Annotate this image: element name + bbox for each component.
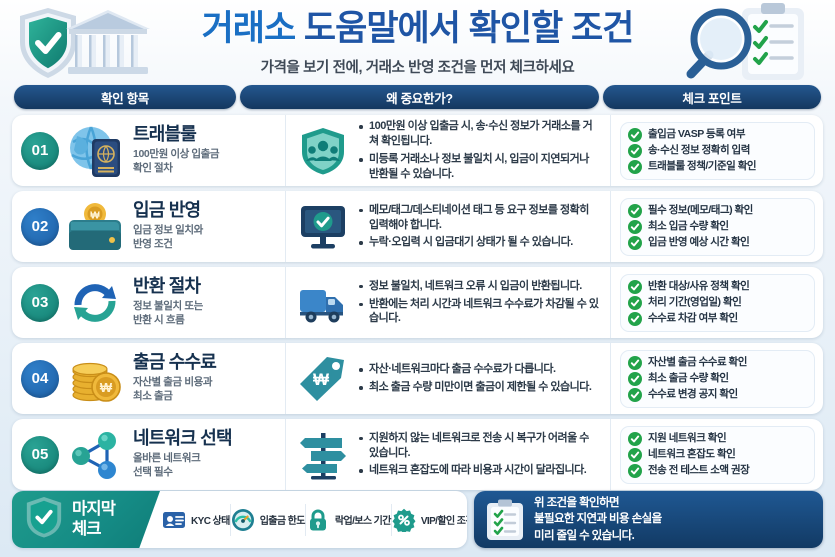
table-row[interactable]: 04 ₩ 출금 수수료 자산별 xyxy=(12,343,823,414)
checkpoint-label: 최소 출금 수량 확인 xyxy=(648,372,729,386)
header-right-illustration xyxy=(660,0,825,84)
row-bullets: 메모/태그/데스티네이션 태그 등 요구 정보를 정확히 입력해야 합니다. 누… xyxy=(358,203,600,251)
price-tag-won-icon: ₩ xyxy=(297,354,349,404)
mini-item-kyc[interactable]: KYC 상태 xyxy=(162,504,231,536)
check-circle-icon xyxy=(628,144,642,158)
table-row[interactable]: 02 ₩ 입금 반영 입금 정보 일치와반영 조건 xyxy=(12,191,823,262)
row-bullets: 자산·네트워크마다 출금 수수료가 다릅니다. 최소 출금 수량 미만이면 출금… xyxy=(358,362,600,395)
monitor-check-icon xyxy=(297,202,349,252)
checkpoint-label: 네트워크 혼잡도 확인 xyxy=(648,448,735,462)
checkpoint-label: 자산별 출금 수수료 확인 xyxy=(648,356,747,370)
clipboard-check-icon xyxy=(485,498,525,542)
page-subtitle: 가격을 보기 전에, 거래소 반영 조건을 먼저 체크하세요 xyxy=(202,56,634,77)
check-circle-icon xyxy=(628,204,642,218)
page-header: 거래소 도움말에서 확인할 조건 가격을 보기 전에, 거래소 반영 조건을 먼… xyxy=(0,0,835,84)
check-circle-icon xyxy=(628,236,642,250)
bullet-item: 정보 불일치, 네트워크 오류 시 입금이 반환됩니다. xyxy=(358,279,600,294)
checkpoint-label: 전송 전 테스트 소액 권장 xyxy=(648,464,749,478)
row-checkpoints-cell: 필수 정보(메모/태그) 확인 최소 입금 수량 확인 입금 반영 예상 시간 … xyxy=(611,191,823,262)
checkpoint-item: 입금 반영 예상 시간 확인 xyxy=(628,236,807,250)
row-subtitle: 입금 정보 일치와반영 조건 xyxy=(133,224,279,252)
checkpoint-item: 자산별 출금 수수료 확인 xyxy=(628,356,807,370)
check-circle-icon xyxy=(628,448,642,462)
final-check-line1: 마지막 xyxy=(72,500,115,518)
row-item-cell: 01 트래블룰 100만원 이상 입출금확인 절차 xyxy=(12,115,286,186)
checkpoint-item: 처리 기간(영업일) 확인 xyxy=(628,296,807,310)
row-bullets: 지원하지 않는 네트워크로 전송 시 복구가 어려울 수 있습니다. 네트워크 … xyxy=(358,431,600,479)
final-check-items: KYC 상태 입출금 한도 락업/보스 기간 VIP/할인 조건 xyxy=(160,491,467,548)
page-title-accent: 거래소 xyxy=(202,9,296,48)
mini-item-lockup[interactable]: 락업/보스 기간 xyxy=(306,504,392,536)
row-item-cell: 05 네트워크 선택 올바른 네트워 xyxy=(12,419,286,490)
check-circle-icon xyxy=(628,432,642,446)
bullet-item: 메모/태그/데스티네이션 태그 등 요구 정보를 정확히 입력해야 합니다. xyxy=(358,203,600,233)
bullet-item: 100만원 이상 입출금 시, 송·수신 정보가 거래소를 거쳐 확인됩니다. xyxy=(358,119,600,149)
magnifier-icon xyxy=(691,12,748,74)
bullet-item: 자산·네트워크마다 출금 수수료가 다릅니다. xyxy=(358,362,600,377)
row-checkpoints-cell: 출입금 VASP 등록 여부 송·수신 정보 정확히 입력 트래블룰 정책/기준… xyxy=(611,115,823,186)
row-reason-cell: ₩ 자산·네트워크마다 출금 수수료가 다릅니다. 최소 출금 수량 미만이면 … xyxy=(286,343,611,414)
column-header-2: 왜 중요한가? xyxy=(240,85,599,109)
final-check-badge: 마지막 체크 xyxy=(12,491,160,548)
page-title: 거래소 도움말에서 확인할 조건 xyxy=(202,9,634,48)
bullet-item: 지원하지 않는 네트워크로 전송 시 복구가 어려울 수 있습니다. xyxy=(358,431,600,461)
row-title: 출금 수수료 xyxy=(133,353,279,373)
truck-icon xyxy=(297,278,349,328)
row-title: 반환 절차 xyxy=(133,277,279,297)
globe-passport-icon xyxy=(65,122,125,180)
row-subtitle: 자산별 출금 비용과최소 출금 xyxy=(133,376,279,404)
row-item-cell: 03 반환 절차 정보 불일치 또는반환 시 흐름 xyxy=(12,267,286,338)
svg-text:₩: ₩ xyxy=(100,380,113,395)
summary-line-2: 불필요한 지연과 비용 손실을 xyxy=(534,513,662,525)
checkpoint-label: 지원 네트워크 확인 xyxy=(648,432,726,446)
gauge-icon xyxy=(231,508,255,532)
final-check-line2: 체크 xyxy=(72,520,101,538)
condition-rows: 01 트래블룰 100만원 이상 입출금확인 절차 xyxy=(0,110,835,490)
column-header-3: 체크 포인트 xyxy=(603,85,821,109)
checkpoint-item: 송·수신 정보 정확히 입력 xyxy=(628,144,807,158)
row-subtitle: 정보 불일치 또는반환 시 흐름 xyxy=(133,300,279,328)
row-bullets: 100만원 이상 입출금 시, 송·수신 정보가 거래소를 거쳐 확인됩니다. … xyxy=(358,119,600,181)
check-circle-icon xyxy=(628,128,642,142)
column-header-1: 확인 항목 xyxy=(14,85,236,109)
checkpoint-label: 송·수신 정보 정확히 입력 xyxy=(648,144,750,158)
page-title-rest: 도움말에서 확인할 조건 xyxy=(295,9,633,48)
page-footer: 마지막 체크 KYC 상태 입출금 한도 락업/보스 기 xyxy=(12,491,823,548)
checkpoint-label: 반환 대상/사유 정책 확인 xyxy=(648,280,749,294)
id-card-icon xyxy=(162,508,186,532)
row-reason-cell: 메모/태그/데스티네이션 태그 등 요구 정보를 정확히 입력해야 합니다. 누… xyxy=(286,191,611,262)
row-checkpoints-cell: 지원 네트워크 확인 네트워크 혼잡도 확인 전송 전 테스트 소액 권장 xyxy=(611,419,823,490)
row-bullets: 정보 불일치, 네트워크 오류 시 입금이 반환됩니다. 반환에는 처리 시간과… xyxy=(358,279,600,327)
check-circle-icon xyxy=(628,296,642,310)
wallet-coin-icon: ₩ xyxy=(65,198,125,256)
bullet-item: 누락·오입력 시 입금대기 상태가 될 수 있습니다. xyxy=(358,235,600,250)
check-circle-icon xyxy=(628,280,642,294)
checkpoint-item: 반환 대상/사유 정책 확인 xyxy=(628,280,807,294)
mini-label: KYC 상태 xyxy=(191,512,230,527)
check-circle-icon xyxy=(628,388,642,402)
gold-coins-icon: ₩ xyxy=(65,350,125,408)
table-row[interactable]: 01 트래블룰 100만원 이상 입출금확인 절차 xyxy=(12,115,823,186)
row-item-cell: 04 ₩ 출금 수수료 자산별 xyxy=(12,343,286,414)
table-row[interactable]: 05 네트워크 선택 올바른 네트워 xyxy=(12,419,823,490)
mini-label: 입출금 한도 xyxy=(260,512,305,527)
summary-line-1: 위 조건을 확인하면 xyxy=(534,497,619,509)
checkpoint-item: 최소 입금 수량 확인 xyxy=(628,220,807,234)
checkpoint-label: 출입금 VASP 등록 여부 xyxy=(648,128,745,142)
row-number-badge: 03 xyxy=(21,284,59,322)
checkpoint-item: 트래블룰 정책/기준일 확인 xyxy=(628,160,807,174)
svg-text:₩: ₩ xyxy=(313,370,330,389)
shield-check-icon xyxy=(20,8,76,78)
checkpoint-item: 전송 전 테스트 소액 권장 xyxy=(628,464,807,478)
row-checkpoints-cell: 자산별 출금 수수료 확인 최소 출금 수량 확인 수수료 변경 공지 확인 xyxy=(611,343,823,414)
check-circle-icon xyxy=(628,160,642,174)
row-number-badge: 01 xyxy=(21,132,59,170)
checkpoint-item: 네트워크 혼잡도 확인 xyxy=(628,448,807,462)
bank-icon xyxy=(66,10,150,74)
row-checkpoints-cell: 반환 대상/사유 정책 확인 처리 기간(영업일) 확인 수수료 차감 여부 확… xyxy=(611,267,823,338)
row-subtitle: 올바른 네트워크선택 필수 xyxy=(133,452,279,480)
check-circle-icon xyxy=(628,464,642,478)
checkpoint-item: 수수료 변경 공지 확인 xyxy=(628,388,807,402)
bullet-item: 네트워크 혼잡도에 따라 비용과 시간이 달라집니다. xyxy=(358,463,600,478)
checkpoint-item: 수수료 차감 여부 확인 xyxy=(628,312,807,326)
percent-badge-icon xyxy=(392,508,416,532)
refresh-cycle-icon xyxy=(65,274,125,332)
checkpoint-item: 최소 출금 수량 확인 xyxy=(628,372,807,386)
mini-item-vip[interactable]: VIP/할인 조건 xyxy=(392,504,467,536)
svg-text:₩: ₩ xyxy=(90,210,100,221)
row-subtitle: 100만원 이상 입출금확인 절차 xyxy=(133,148,279,176)
checkpoint-label: 처리 기간(영업일) 확인 xyxy=(648,296,741,310)
row-reason-cell: 100만원 이상 입출금 시, 송·수신 정보가 거래소를 거쳐 확인됩니다. … xyxy=(286,115,611,186)
bullet-item: 반환에는 처리 시간과 네트워크 수수료가 차감될 수 있습니다. xyxy=(358,297,600,327)
checkpoint-item: 지원 네트워크 확인 xyxy=(628,432,807,446)
row-title: 네트워크 선택 xyxy=(133,429,279,449)
row-reason-cell: 정보 불일치, 네트워크 오류 시 입금이 반환됩니다. 반환에는 처리 시간과… xyxy=(286,267,611,338)
checkpoint-label: 필수 정보(메모/태그) 확인 xyxy=(648,204,753,218)
row-item-cell: 02 ₩ 입금 반영 입금 정보 일치와반영 조건 xyxy=(12,191,286,262)
mini-label: 락업/보스 기간 xyxy=(335,512,391,527)
row-number-badge: 02 xyxy=(21,208,59,246)
checkpoint-label: 트래블룰 정책/기준일 확인 xyxy=(648,160,756,174)
summary-line-3: 미리 줄일 수 있습니다. xyxy=(534,530,634,542)
summary-panel: 위 조건을 확인하면 불필요한 지연과 비용 손실을 미리 줄일 수 있습니다. xyxy=(474,491,823,548)
checkpoint-item: 필수 정보(메모/태그) 확인 xyxy=(628,204,807,218)
signpost-icon xyxy=(297,430,349,480)
network-nodes-icon xyxy=(65,426,125,484)
bullet-item: 미등록 거래소나 정보 불일치 시, 입금이 지연되거나 반환될 수 있습니다. xyxy=(358,152,600,182)
shield-check-icon xyxy=(24,495,64,544)
summary-text: 위 조건을 확인하면 불필요한 지연과 비용 손실을 미리 줄일 수 있습니다. xyxy=(534,495,662,544)
shield-people-icon xyxy=(297,126,349,176)
final-check-label: 마지막 체크 xyxy=(72,500,115,538)
final-check-panel: 마지막 체크 KYC 상태 입출금 한도 락업/보스 기 xyxy=(12,491,467,548)
checkpoint-label: 수수료 차감 여부 확인 xyxy=(648,312,738,326)
check-circle-icon xyxy=(628,312,642,326)
row-number-badge: 04 xyxy=(21,360,59,398)
row-title: 트래블룰 xyxy=(133,125,279,145)
checkpoint-label: 최소 입금 수량 확인 xyxy=(648,220,729,234)
row-number-badge: 05 xyxy=(21,436,59,474)
row-reason-cell: 지원하지 않는 네트워크로 전송 시 복구가 어려울 수 있습니다. 네트워크 … xyxy=(286,419,611,490)
column-header-bands: 확인 항목 왜 중요한가? 체크 포인트 xyxy=(0,84,835,110)
check-circle-icon xyxy=(628,220,642,234)
check-circle-icon xyxy=(628,372,642,386)
header-left-illustration xyxy=(8,2,158,82)
checkpoint-item: 출입금 VASP 등록 여부 xyxy=(628,128,807,142)
row-title: 입금 반영 xyxy=(133,201,279,221)
checkpoint-label: 수수료 변경 공지 확인 xyxy=(648,388,738,402)
table-row[interactable]: 03 반환 절차 정보 불일치 또는반환 시 흐름 xyxy=(12,267,823,338)
mini-item-limit[interactable]: 입출금 한도 xyxy=(231,504,306,536)
bullet-item: 최소 출금 수량 미만이면 출금이 제한될 수 있습니다. xyxy=(358,380,600,395)
lock-icon xyxy=(306,508,330,532)
mini-label: VIP/할인 조건 xyxy=(421,512,467,527)
checkpoint-label: 입금 반영 예상 시간 확인 xyxy=(648,236,749,250)
check-circle-icon xyxy=(628,356,642,370)
